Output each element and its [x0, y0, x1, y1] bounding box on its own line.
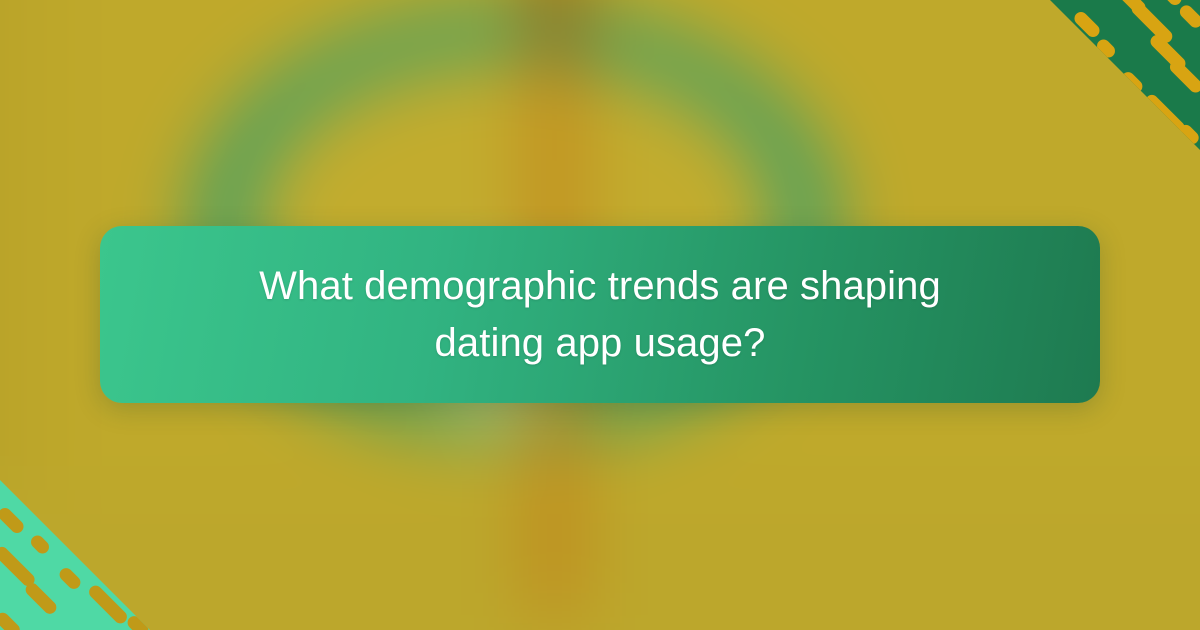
background-vertical-stripe-shadow — [545, 0, 573, 66]
headline-line-1: What demographic trends are shaping — [259, 264, 941, 308]
corner-dash — [1057, 119, 1085, 147]
corner-dash — [109, 486, 134, 511]
og-card: What demographic trends are shapingdatin… — [0, 0, 1200, 630]
corner-dash — [58, 488, 98, 528]
corner-pattern-bottom-left — [0, 480, 150, 630]
corner-dash — [82, 520, 124, 562]
background-bottom-band — [0, 490, 1200, 630]
corner-dash — [1058, 49, 1101, 92]
corner-pattern-bottom-left-svg — [0, 480, 150, 630]
corner-dash — [1085, 89, 1120, 124]
corner-dash — [113, 552, 150, 589]
page-title: What demographic trends are shapingdatin… — [259, 258, 941, 372]
headline-line-2: dating app usage? — [435, 321, 766, 365]
corner-pattern-top-right-svg — [1050, 0, 1200, 150]
headline-banner: What demographic trends are shapingdatin… — [100, 226, 1100, 403]
corner-pattern-top-right — [1050, 0, 1200, 150]
corner-panel-bottom-left — [0, 480, 150, 630]
